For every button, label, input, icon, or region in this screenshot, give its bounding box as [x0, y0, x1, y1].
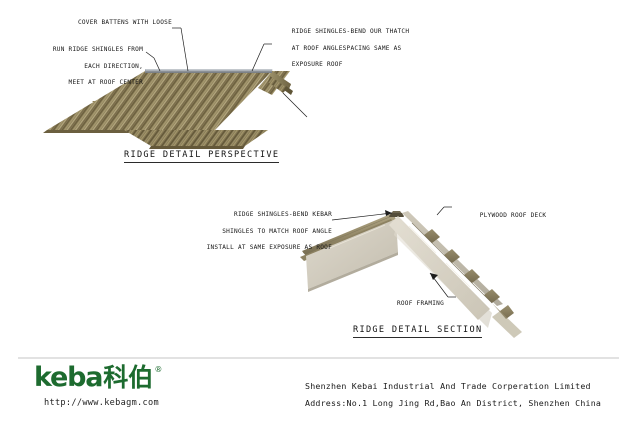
company-logo: keba 科伯 ®: [34, 364, 162, 391]
perspective-title: RIDGE DETAIL PERSPECTIVE: [124, 150, 279, 163]
logo-brand-chinese: 科伯: [103, 364, 153, 391]
logo-brand-latin: keba: [34, 364, 102, 391]
section-title: RIDGE DETAIL SECTION: [353, 325, 482, 338]
company-info: Shenzhen Kebai Industrial And Trade Corp…: [305, 378, 601, 412]
note-ridge-shingles-thatch: RIDGE SHINGLES-BEND OUR THATCH AT ROOF A…: [276, 20, 409, 77]
note-run-ridge-shingles: RUN RIDGE SHINGLES FROM EACH DIRECTION, …: [0, 38, 143, 95]
company-website-url[interactable]: http://www.kebagm.com: [44, 398, 159, 408]
note-roof-framing: ROOF FRAMING: [312, 292, 444, 317]
footer-divider: [18, 357, 619, 359]
section-right-slope: [389, 211, 522, 338]
roof-panel-step-course: [124, 130, 268, 149]
note-ridge-shingles-kebar: RIDGE SHINGLES-BEND KEBAR SHINGLES TO MA…: [140, 203, 332, 260]
company-address: Address:No.1 Long Jing Rd,Bao An Distric…: [305, 395, 601, 412]
registered-trademark-icon: ®: [154, 365, 162, 374]
note-cover-battens: COVER BATTENS WITH LOOSE: [0, 11, 172, 36]
drawing-sheet: COVER BATTENS WITH LOOSE RUN RIDGE SHING…: [0, 0, 637, 433]
section-ridge-apex: [389, 211, 404, 217]
note-plywood-roof-deck: PLYWOOD ROOF DECK: [464, 204, 546, 229]
company-name: Shenzhen Kebai Industrial And Trade Corp…: [305, 378, 601, 395]
ridge-cap-batten: [145, 69, 273, 73]
